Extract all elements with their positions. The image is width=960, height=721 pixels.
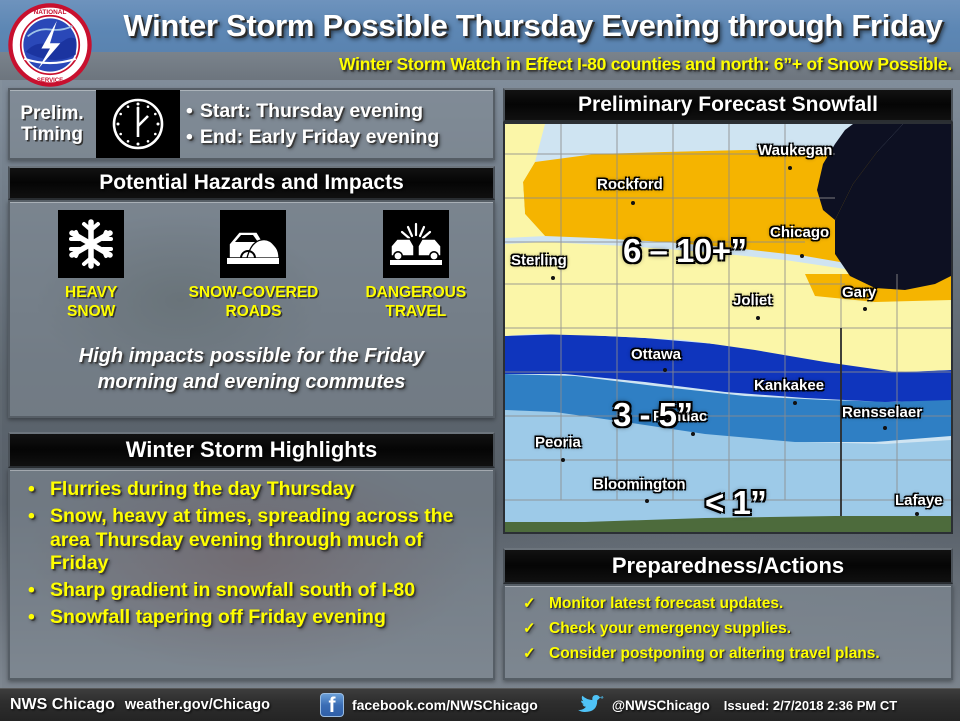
car-crash-icon-box [383, 210, 449, 278]
hazard-item-heavy-snow: HEAVY SNOW [10, 210, 172, 335]
hazard-label-dangerous-travel: DANGEROUS TRAVEL [365, 283, 466, 322]
map-graphic [505, 124, 951, 532]
footer-office: NWS Chicago [10, 696, 115, 714]
hazards-footnote-line2: morning and evening commutes [22, 370, 481, 396]
timing-panel: Prelim. Timing Start: Thursday evening E… [8, 88, 495, 160]
highlights-header: Winter Storm Highlights [8, 432, 495, 468]
highlights-panel: Flurries during the day Thursday Snow, h… [8, 468, 495, 680]
hazard-label-line2: TRAVEL [365, 302, 466, 321]
watch-subtitle-bar: Winter Storm Watch in Effect I-80 counti… [0, 52, 960, 80]
page-title: Winter Storm Possible Thursday Evening t… [110, 3, 956, 49]
footer-bar: NWS Chicago weather.gov/Chicago f facebo… [0, 688, 960, 721]
highlights-list: Flurries during the day Thursday Snow, h… [10, 470, 493, 630]
list-item: Snowfall tapering off Friday evening [24, 606, 481, 630]
map-city-dot [631, 201, 635, 205]
snowflake-icon-box [58, 210, 124, 278]
list-item: Flurries during the day Thursday [24, 478, 481, 502]
map-city-label: Waukegan [758, 142, 832, 159]
list-item: Check your emergency supplies. [515, 618, 943, 640]
map-city-dot [645, 499, 649, 503]
hazard-icons-row: HEAVY SNOW SNOW-COVERED ROADS [10, 210, 497, 335]
hazard-label-line2: SNOW [65, 302, 117, 321]
map-city-label: Bloomington [593, 476, 685, 493]
hazard-label-line1: HEAVY [65, 283, 117, 302]
list-item: Consider postponing or altering travel p… [515, 643, 943, 665]
timing-label: Prelim. Timing [14, 94, 90, 154]
hazard-label-snow-covered-roads: SNOW-COVERED ROADS [189, 283, 319, 322]
map-city-dot [863, 307, 867, 311]
header-bar: Winter Storm Possible Thursday Evening t… [0, 0, 960, 52]
snow-covered-car-icon-box [220, 210, 286, 278]
timing-item-end: End: Early Friday evening [186, 126, 489, 149]
map-city-label: Ottawa [631, 346, 681, 363]
twitter-bird-icon [578, 695, 604, 716]
map-city-label: Rockford [597, 176, 663, 193]
svg-text:NATIONAL: NATIONAL [34, 9, 67, 16]
facebook-icon[interactable]: f [320, 693, 344, 717]
twitter-icon[interactable] [578, 694, 604, 716]
footer-issued: Issued: 2/7/2018 2:36 PM CT [724, 698, 897, 713]
svg-text:SERVICE: SERVICE [37, 78, 63, 84]
list-item: Sharp gradient in snowfall south of I-80 [24, 579, 481, 603]
clock-icon [110, 96, 166, 152]
map-header: Preliminary Forecast Snowfall [503, 88, 953, 122]
map-city-dot [800, 254, 804, 258]
map-city-dot [663, 368, 667, 372]
watch-subtitle: Winter Storm Watch in Effect I-80 counti… [339, 54, 952, 75]
map-city-label: Gary [842, 284, 876, 301]
map-city-dot [793, 401, 797, 405]
snow-covered-car-icon [225, 218, 281, 270]
hazards-panel: HEAVY SNOW SNOW-COVERED ROADS [8, 200, 495, 418]
map-city-label: Rensselaer [842, 404, 922, 421]
map-city-dot [788, 166, 792, 170]
map-city-dot [915, 512, 919, 516]
map-city-dot [883, 426, 887, 430]
hazard-label-line2: ROADS [189, 302, 319, 321]
snowfall-map[interactable]: WaukeganRockfordChicagoSterlingGaryJolie… [503, 122, 953, 534]
footer-facebook[interactable]: facebook.com/NWSChicago [352, 697, 538, 713]
map-city-dot [561, 458, 565, 462]
nws-logo-icon: NATIONAL SERVICE [7, 2, 93, 88]
map-snowfall-amount-label: 3 - 5” [613, 396, 693, 434]
map-city-label: Kankakee [754, 377, 824, 394]
preparedness-list: Monitor latest forecast updates. Check y… [505, 586, 951, 665]
preparedness-panel: Monitor latest forecast updates. Check y… [503, 584, 953, 680]
hazard-label-heavy-snow: HEAVY SNOW [65, 283, 117, 322]
hazard-item-snow-covered-roads: SNOW-COVERED ROADS [172, 210, 334, 335]
hazard-label-line1: SNOW-COVERED [189, 283, 319, 302]
hazard-item-dangerous-travel: DANGEROUS TRAVEL [335, 210, 497, 335]
hazards-header: Potential Hazards and Impacts [8, 166, 495, 200]
map-city-label: Peoria [535, 434, 581, 451]
footer-twitter[interactable]: @NWSChicago [612, 698, 710, 713]
timing-label-line2: Timing [21, 124, 83, 145]
hazards-footnote: High impacts possible for the Friday mor… [22, 344, 481, 395]
map-snowfall-amount-label: < 1” [705, 484, 766, 522]
timing-label-line1: Prelim. [20, 103, 83, 124]
footer-website[interactable]: weather.gov/Chicago [125, 697, 270, 713]
list-item: Snow, heavy at times, spreading across t… [24, 505, 481, 576]
car-crash-icon [388, 218, 444, 270]
timing-item-start: Start: Thursday evening [186, 100, 489, 123]
clock-icon-box [96, 90, 180, 158]
map-city-label: Chicago [770, 224, 829, 241]
timing-items: Start: Thursday evening End: Early Frida… [186, 93, 489, 155]
hazard-label-line1: DANGEROUS [365, 283, 466, 302]
map-city-label: Sterling [511, 252, 567, 269]
map-city-label: Lafaye [895, 492, 943, 509]
list-item: Monitor latest forecast updates. [515, 593, 943, 615]
preparedness-header: Preparedness/Actions [503, 548, 953, 584]
map-snowfall-amount-label: 6 – 10+” [623, 232, 747, 270]
snowflake-icon [65, 218, 117, 270]
map-city-dot [756, 316, 760, 320]
map-city-dot [551, 276, 555, 280]
hazards-footnote-line1: High impacts possible for the Friday [22, 344, 481, 370]
map-city-label: Joliet [733, 292, 772, 309]
